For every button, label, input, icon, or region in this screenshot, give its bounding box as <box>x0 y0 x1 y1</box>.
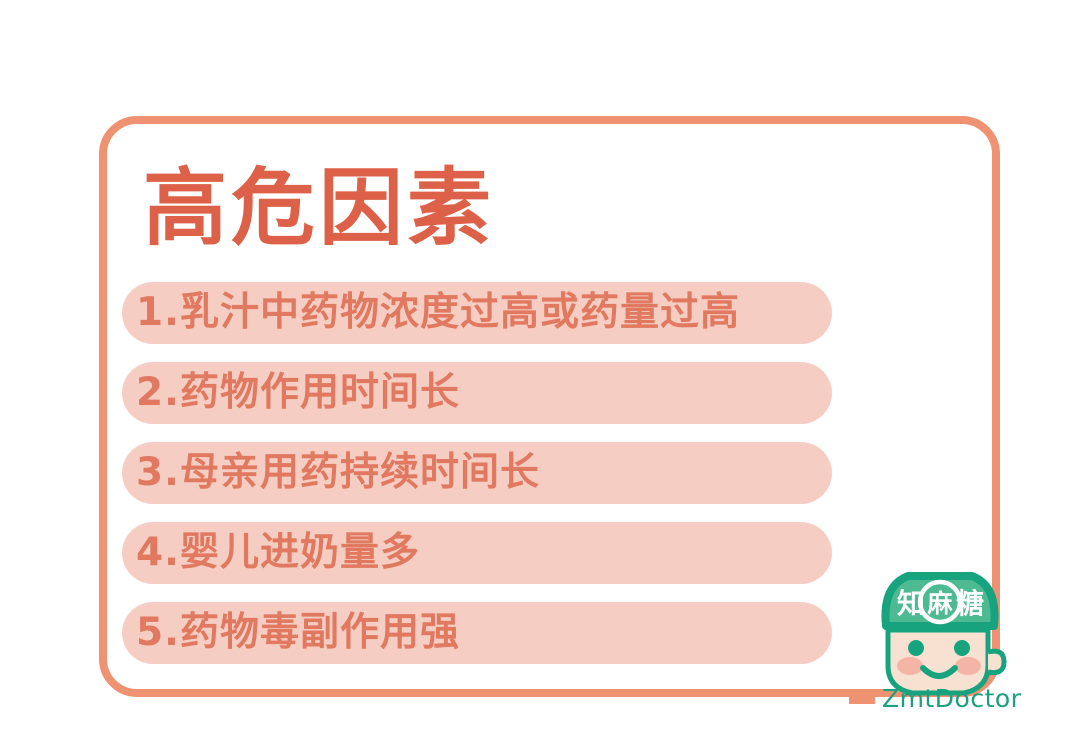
list-item[interactable]: 3.母亲用药持续时间长 <box>122 442 832 504</box>
page-title: 高危因素 <box>143 160 495 256</box>
brand-wordmark-row: ZmtDoctor <box>849 683 1019 713</box>
list-item[interactable]: 4.婴儿进奶量多 <box>122 522 832 584</box>
cap-char-2: 麻 <box>926 589 953 618</box>
list-item-label: 1.乳汁中药物浓度过高或药量过高 <box>136 291 740 335</box>
brand-wordmark: ZmtDoctor <box>882 685 1021 712</box>
cap-char-1: 知 <box>897 587 925 620</box>
list-item-label: 5.药物毒副作用强 <box>136 611 460 655</box>
list-item-label: 2.药物作用时间长 <box>136 371 460 415</box>
brand-dash-icon <box>849 693 875 704</box>
list-item[interactable]: 1.乳汁中药物浓度过高或药量过高 <box>122 282 832 344</box>
cap-char-3: 糖 <box>956 587 984 620</box>
list-item-label: 3.母亲用药持续时间长 <box>136 451 540 495</box>
risk-factor-list: 1.乳汁中药物浓度过高或药量过高 2.药物作用时间长 3.母亲用药持续时间长 4… <box>122 282 832 682</box>
list-item-label: 4.婴儿进奶量多 <box>136 531 420 575</box>
list-item[interactable]: 2.药物作用时间长 <box>122 362 832 424</box>
list-item[interactable]: 5.药物毒副作用强 <box>122 602 832 664</box>
